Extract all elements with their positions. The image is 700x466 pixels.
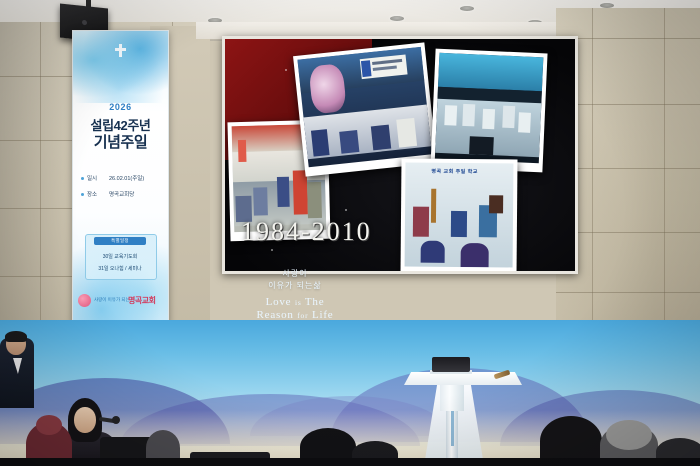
banner-row-value: 26.02.01(주일) xyxy=(109,174,144,182)
sanctuary-photo: 명곡 교회 주일 학교 1984-2010 2026 설립42주년 기념주일 일… xyxy=(0,0,700,466)
photo-worship-service xyxy=(293,42,437,176)
speaker-driver-icon xyxy=(82,20,87,26)
banner-row-label: 장소 xyxy=(87,190,97,198)
bullet-icon xyxy=(81,193,84,196)
slogan-english-line2: Reason for Life xyxy=(230,309,360,321)
anniversary-banner: 2026 설립42주년 기념주일 일시 26.02.01(주일) 장소 명곡교회… xyxy=(72,30,169,324)
cross-icon xyxy=(119,44,122,57)
slogan-korean-line2: 이유가 되는삶 xyxy=(230,280,360,291)
logo-church-name: 명곡교회 xyxy=(128,295,155,306)
banner-schedule-line: 30일 교육기도회 xyxy=(73,253,167,260)
banner-row-value: 명곡교회당 xyxy=(109,190,134,198)
banner-schedule-badge: 특별일정 xyxy=(94,237,146,245)
microphone-head-icon xyxy=(112,416,120,424)
church-logo-icon xyxy=(78,294,91,307)
banner-watercolor-top xyxy=(73,31,168,103)
slogan-the: The xyxy=(305,296,325,308)
photo-congregation-choir xyxy=(430,49,547,173)
downlight-icon xyxy=(460,6,474,11)
slogan-reason: Reason xyxy=(257,309,294,321)
banner-schedule-line: 31일 오나힘 / 세미나 xyxy=(73,265,167,272)
audience-hair-white xyxy=(606,420,652,450)
person-face xyxy=(74,407,96,433)
pulpit-neck xyxy=(440,385,464,411)
projection-screen[interactable]: 명곡 교회 주일 학교 1984-2010 xyxy=(222,36,578,274)
bullet-icon xyxy=(81,177,84,180)
slogan-life: Life xyxy=(312,309,334,321)
foreground-rail xyxy=(0,458,700,466)
downlight-icon xyxy=(390,16,404,21)
banner-row-label: 일시 xyxy=(87,174,97,182)
pulpit-monitor xyxy=(432,357,470,372)
slogan-is: is xyxy=(295,298,302,307)
logo-tagline: 사랑이 이유가 되는 xyxy=(94,297,130,303)
banner-line2: 기념주일 xyxy=(73,131,168,152)
slogan-korean-line1: 사랑이 xyxy=(230,268,360,279)
projected-slide: 명곡 교회 주일 학교 1984-2010 xyxy=(225,39,575,271)
photo-sunday-school: 명곡 교회 주일 학교 xyxy=(400,158,517,271)
church-logo: 사랑이 이유가 되는 명곡교회 xyxy=(78,293,163,309)
slogan-love: Love xyxy=(266,296,292,308)
photo-caption: 명곡 교회 주일 학교 xyxy=(431,168,478,175)
slogan-for: for xyxy=(297,311,308,320)
slide-year-range: 1984-2010 xyxy=(241,217,372,247)
audience-head xyxy=(36,415,62,435)
slogan-english-line1: Love is The xyxy=(230,296,360,308)
stage-wall-slogan: 사랑이 이유가 되는삶 Love is The Reason for Life xyxy=(230,268,360,321)
person-hair xyxy=(5,331,27,342)
banner-year: 2026 xyxy=(73,102,168,112)
